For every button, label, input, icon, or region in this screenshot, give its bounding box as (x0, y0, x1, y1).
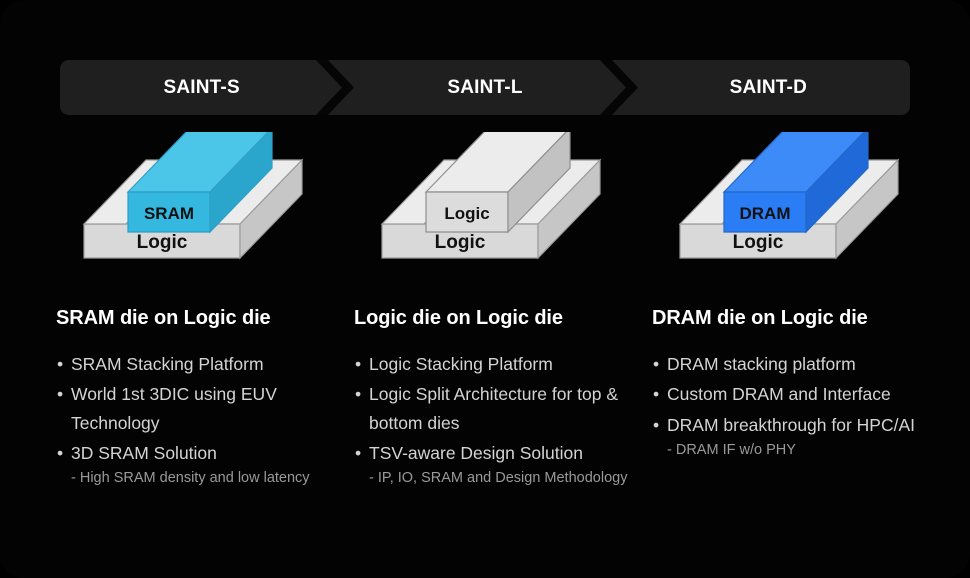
list-item: • World 1st 3DIC using EUV Technology (56, 380, 354, 437)
list-item: • Logic Stacking Platform (354, 350, 652, 378)
die-stack-figure-logic: Logic Logic (354, 132, 652, 284)
bullet-dot-icon: • (355, 380, 361, 408)
column-heading-dram: DRAM die on Logic die (652, 306, 950, 330)
die-stack-figure-dram: DRAM Logic (652, 132, 950, 284)
phase-label-saint-l: SAINT-L (447, 77, 522, 99)
slide-root: SAINT-S SAINT-L SAINT-D (0, 0, 970, 578)
bullet-text: 3D SRAM Solution (71, 443, 217, 463)
die-stack-figure-sram: SRAM Logic (56, 132, 354, 284)
column-saint-l: Logic Logic Logic die on Logic die • Log… (354, 132, 652, 493)
column-saint-s: SRAM Logic SRAM die on Logic die • SRAM … (56, 132, 354, 493)
column-container: SRAM Logic SRAM die on Logic die • SRAM … (56, 132, 916, 493)
bullet-text: Custom DRAM and Interface (667, 384, 891, 404)
list-item: • 3D SRAM Solution - High SRAM density a… (56, 439, 354, 491)
bullet-text: DRAM breakthrough for HPC/AI (667, 415, 915, 435)
phase-label-saint-d: SAINT-D (730, 77, 807, 99)
bullet-text: TSV-aware Design Solution (369, 443, 583, 463)
bullet-dot-icon: • (57, 350, 63, 378)
phase-segment-saint-d[interactable]: SAINT-D (627, 60, 910, 115)
bullet-dot-icon: • (57, 380, 63, 408)
bullet-subnote: - High SRAM density and low latency (71, 467, 354, 490)
base-die-label: Logic (435, 232, 486, 253)
bullet-text: SRAM Stacking Platform (71, 354, 264, 374)
bullet-dot-icon: • (355, 350, 361, 378)
bullet-text: Logic Stacking Platform (369, 354, 553, 374)
column-heading-logic: Logic die on Logic die (354, 306, 652, 330)
base-die-label: Logic (733, 232, 784, 253)
top-die-label: DRAM (740, 204, 791, 223)
bullet-list-logic: • Logic Stacking Platform • Logic Split … (354, 350, 652, 491)
list-item: • TSV-aware Design Solution - IP, IO, SR… (354, 439, 652, 491)
phase-segment-saint-s[interactable]: SAINT-S (60, 60, 343, 115)
bullet-subnote: - DRAM IF w/o PHY (667, 439, 950, 462)
bullet-dot-icon: • (57, 439, 63, 467)
list-item: • SRAM Stacking Platform (56, 350, 354, 378)
column-heading-sram: SRAM die on Logic die (56, 306, 354, 330)
bullet-list-sram: • SRAM Stacking Platform • World 1st 3DI… (56, 350, 354, 491)
bullet-text: DRAM stacking platform (667, 354, 856, 374)
bullet-dot-icon: • (355, 439, 361, 467)
phase-segment-saint-l[interactable]: SAINT-L (343, 60, 626, 115)
bullet-dot-icon: • (653, 380, 659, 408)
list-item: • Custom DRAM and Interface (652, 380, 950, 408)
bullet-text: World 1st 3DIC using EUV Technology (71, 384, 277, 432)
top-die-label: SRAM (144, 204, 194, 223)
list-item: • DRAM stacking platform (652, 350, 950, 378)
phase-progression-bar: SAINT-S SAINT-L SAINT-D (60, 60, 910, 115)
bullet-text: Logic Split Architecture for top & botto… (369, 384, 618, 432)
list-item: • Logic Split Architecture for top & bot… (354, 380, 652, 437)
bullet-list-dram: • DRAM stacking platform • Custom DRAM a… (652, 350, 950, 463)
bullet-subnote: - IP, IO, SRAM and Design Methodology (369, 467, 652, 490)
bullet-dot-icon: • (653, 350, 659, 378)
base-die-label: Logic (137, 232, 188, 253)
list-item: • DRAM breakthrough for HPC/AI - DRAM IF… (652, 411, 950, 463)
bullet-dot-icon: • (653, 411, 659, 439)
top-die-label: Logic (444, 204, 489, 223)
phase-label-saint-s: SAINT-S (163, 77, 239, 99)
column-saint-d: DRAM Logic DRAM die on Logic die • DRAM … (652, 132, 950, 493)
